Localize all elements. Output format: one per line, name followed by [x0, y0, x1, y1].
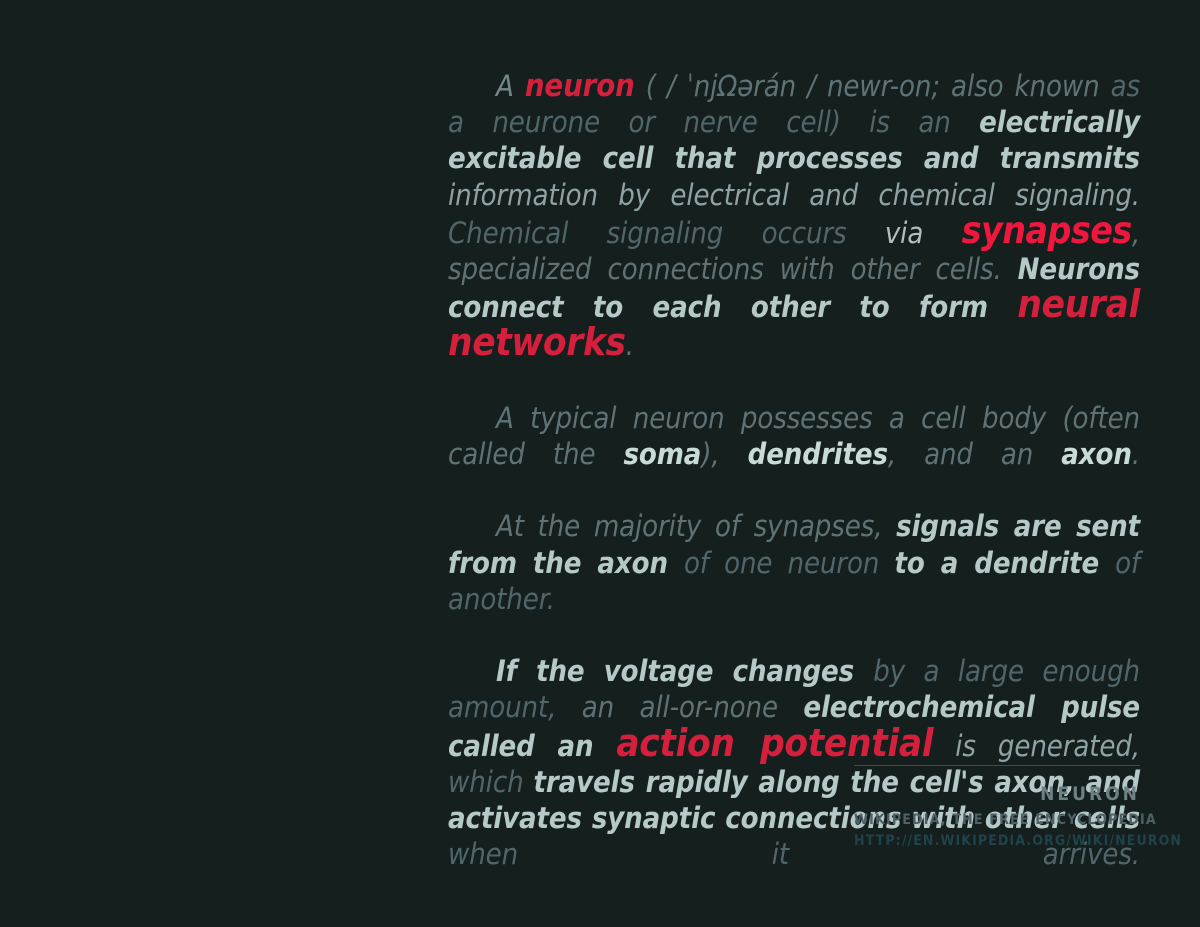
attribution-divider — [854, 765, 1140, 766]
paragraph-1: A neuron ( / ˈnjΩərán / newr-on; also kn… — [448, 68, 1140, 400]
text-run: of one neuron — [684, 546, 895, 580]
attribution-block: Neuron Wikipedia, the free encyclopedia … — [854, 765, 1140, 850]
text-run: , — [1132, 216, 1140, 250]
text-run: dendrites — [748, 437, 888, 471]
text-run: an all-or-none — [582, 690, 804, 724]
text-run: If the voltage changes — [496, 654, 873, 688]
paragraph-2: A typical neuron possesses a cell body (… — [448, 400, 1140, 509]
attribution-url[interactable]: http://en.wikipedia.org/wiki/neuron — [854, 832, 1140, 851]
text-run: , and an — [888, 437, 1061, 471]
text-run: is generated, — [933, 729, 1140, 763]
text-run: At the majority of synapses, — [496, 509, 896, 543]
paragraph-1-runs: A neuron ( / ˈnjΩərán / newr-on; also kn… — [448, 69, 1140, 362]
attribution-title: Neuron — [854, 782, 1140, 808]
paragraph-2-runs: A typical neuron possesses a cell body (… — [448, 401, 1140, 471]
text-run: specialized connections with other cells… — [448, 252, 1018, 286]
text-run: ( / ˈnjΩərán / newr-on; also known — [635, 69, 1111, 103]
text-run: . — [1132, 437, 1140, 471]
text-run: which — [448, 765, 533, 799]
text-run: action potential — [616, 721, 933, 766]
text-run: A — [496, 69, 525, 103]
text-run: ), — [701, 437, 747, 471]
text-run: neuron — [525, 68, 635, 104]
text-run: via — [885, 216, 962, 250]
text-run: . — [626, 328, 634, 362]
text-run: Chemical signaling occurs — [448, 216, 885, 250]
paragraph-3: At the majority of synapses, signals are… — [448, 508, 1140, 653]
text-run: synapses — [962, 209, 1132, 252]
text-run: soma — [623, 437, 701, 471]
attribution-source: Wikipedia, the free encyclopedia — [854, 811, 1140, 830]
text-run: information by electrical and chemical s… — [448, 178, 1140, 212]
paragraph-3-runs: At the majority of synapses, signals are… — [448, 509, 1140, 615]
text-run: to a dendrite — [895, 546, 1116, 580]
text-run: axon — [1061, 437, 1132, 471]
